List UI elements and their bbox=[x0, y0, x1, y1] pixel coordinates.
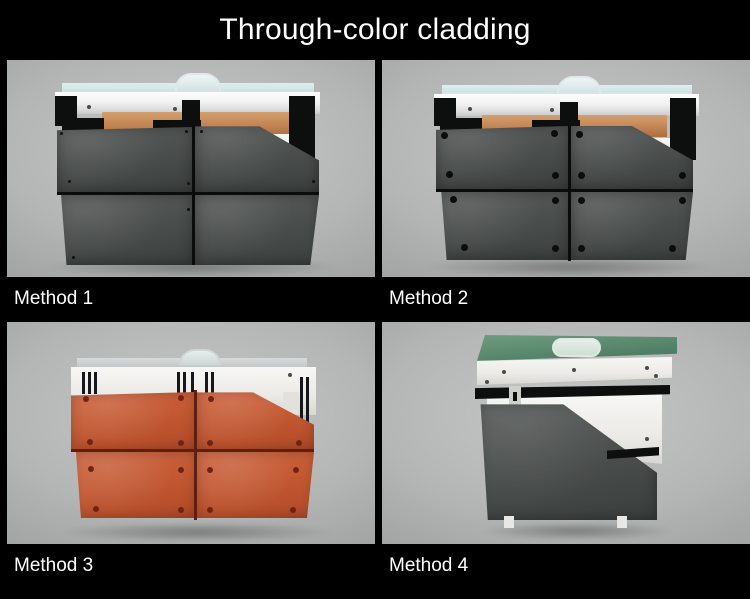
method-4-photo bbox=[382, 322, 750, 544]
cladding-panel-lower-right bbox=[195, 195, 319, 265]
vertical-seam bbox=[194, 390, 197, 520]
method-3-label-band: Method 3 bbox=[7, 544, 375, 588]
face-fixed-rivet bbox=[178, 507, 184, 513]
method-grid: Method 1 bbox=[0, 60, 750, 588]
panel-fixing bbox=[72, 256, 75, 259]
face-fixed-rivet bbox=[88, 466, 94, 472]
method-grid-row-2: Method 3 bbox=[0, 322, 750, 588]
frame-screw bbox=[485, 380, 489, 384]
panel-fixing bbox=[187, 182, 190, 185]
frame-screw bbox=[572, 368, 576, 372]
cladding-panel-lower-left bbox=[436, 192, 569, 260]
face-fixed-rivet bbox=[552, 245, 559, 252]
carry-handle bbox=[179, 349, 221, 365]
rail-stripe bbox=[82, 372, 85, 394]
frame-screw bbox=[87, 105, 91, 109]
method-2-photo bbox=[382, 60, 750, 277]
panel-fixing bbox=[68, 180, 71, 183]
rail-stripe bbox=[211, 372, 214, 396]
method-1-photo bbox=[7, 60, 375, 277]
frame-screw bbox=[173, 107, 177, 111]
face-fixed-rivet bbox=[578, 172, 585, 179]
method-grid-row-1: Method 1 bbox=[0, 60, 750, 321]
face-fixed-rivet bbox=[446, 171, 453, 178]
panel-fixing bbox=[312, 180, 315, 183]
frame-screw bbox=[550, 108, 554, 112]
method-cell-3[interactable]: Method 3 bbox=[7, 322, 375, 588]
method-4-label: Method 4 bbox=[389, 555, 468, 577]
face-fixed-rivet bbox=[207, 507, 213, 513]
horizontal-seam bbox=[57, 192, 319, 195]
method-3-photo bbox=[7, 322, 375, 544]
stand-foot bbox=[617, 516, 627, 528]
cladding-panel-lower-right bbox=[197, 452, 314, 518]
face-fixed-rivet bbox=[576, 131, 583, 138]
panel-fixing bbox=[60, 132, 63, 135]
center-mullion bbox=[182, 100, 200, 122]
panel-fixing bbox=[200, 130, 203, 133]
left-bracket bbox=[440, 118, 482, 130]
face-fixed-rivet bbox=[290, 507, 296, 513]
page-title: Through-color cladding bbox=[219, 13, 530, 47]
method-4-label-band: Method 4 bbox=[382, 544, 750, 588]
frame-screw bbox=[654, 374, 658, 378]
method-3-label: Method 3 bbox=[14, 555, 93, 577]
face-fixed-rivet bbox=[293, 467, 299, 473]
face-fixed-rivet bbox=[178, 467, 184, 473]
method-1-label-band: Method 1 bbox=[7, 277, 375, 321]
cladding-panel-upper-left bbox=[57, 127, 193, 193]
carry-handle bbox=[557, 76, 601, 93]
carry-handle bbox=[552, 338, 601, 357]
face-fixed-rivet bbox=[296, 440, 302, 446]
vertical-seam bbox=[192, 125, 195, 265]
face-fixed-rivet bbox=[83, 396, 89, 402]
method-cell-2[interactable]: Method 2 bbox=[382, 60, 750, 321]
stand-foot bbox=[504, 516, 514, 528]
method-cell-1[interactable]: Method 1 bbox=[7, 60, 375, 321]
rail-stripe bbox=[94, 372, 97, 394]
method-1-label: Method 1 bbox=[14, 288, 93, 310]
panel-fixing bbox=[185, 130, 188, 133]
face-fixed-rivet bbox=[208, 396, 214, 402]
cladding-panel-upper-left bbox=[436, 126, 569, 190]
rail-stripe bbox=[88, 372, 91, 394]
face-fixed-rivet bbox=[93, 506, 99, 512]
face-fixed-rivet bbox=[461, 244, 468, 251]
page-root: Through-color cladding bbox=[0, 0, 750, 599]
face-fixed-rivet bbox=[450, 196, 457, 203]
face-fixed-rivet bbox=[178, 440, 184, 446]
ground-shadow bbox=[62, 522, 332, 542]
frame-screw bbox=[468, 107, 472, 111]
horizontal-seam bbox=[436, 189, 693, 192]
rail-stripe bbox=[177, 372, 180, 396]
face-fixed-rivet bbox=[578, 197, 585, 204]
vertical-seam bbox=[568, 124, 571, 261]
rail-clip-slot bbox=[513, 392, 517, 401]
face-fixed-rivet bbox=[552, 197, 559, 204]
face-fixed-rivet bbox=[87, 439, 93, 445]
face-fixed-rivet bbox=[552, 172, 559, 179]
method-cell-4[interactable]: Method 4 bbox=[382, 322, 750, 588]
page-title-bar: Through-color cladding bbox=[0, 0, 750, 60]
method-2-label-band: Method 2 bbox=[382, 277, 750, 321]
face-fixed-rivet bbox=[207, 440, 213, 446]
frame-screw bbox=[645, 366, 649, 370]
method-2-label: Method 2 bbox=[389, 288, 468, 310]
face-fixed-rivet bbox=[578, 245, 585, 252]
face-fixed-rivet bbox=[679, 197, 686, 204]
cladding-panel-lower-left bbox=[57, 195, 193, 265]
frame-screw bbox=[288, 373, 292, 377]
face-fixed-rivet bbox=[669, 245, 676, 252]
cladding-panel-lower-left bbox=[71, 452, 195, 518]
frame-screw bbox=[502, 370, 506, 374]
frame-screw bbox=[645, 437, 649, 441]
face-fixed-rivet bbox=[207, 467, 213, 473]
carry-handle bbox=[175, 73, 221, 91]
face-fixed-rivet bbox=[551, 130, 558, 137]
horizontal-seam bbox=[71, 449, 314, 452]
rail-stripe bbox=[205, 372, 208, 396]
face-fixed-rivet bbox=[441, 132, 448, 139]
face-fixed-rivet bbox=[679, 172, 686, 179]
face-fixed-rivet bbox=[178, 395, 184, 401]
panel-fixing bbox=[187, 208, 190, 211]
